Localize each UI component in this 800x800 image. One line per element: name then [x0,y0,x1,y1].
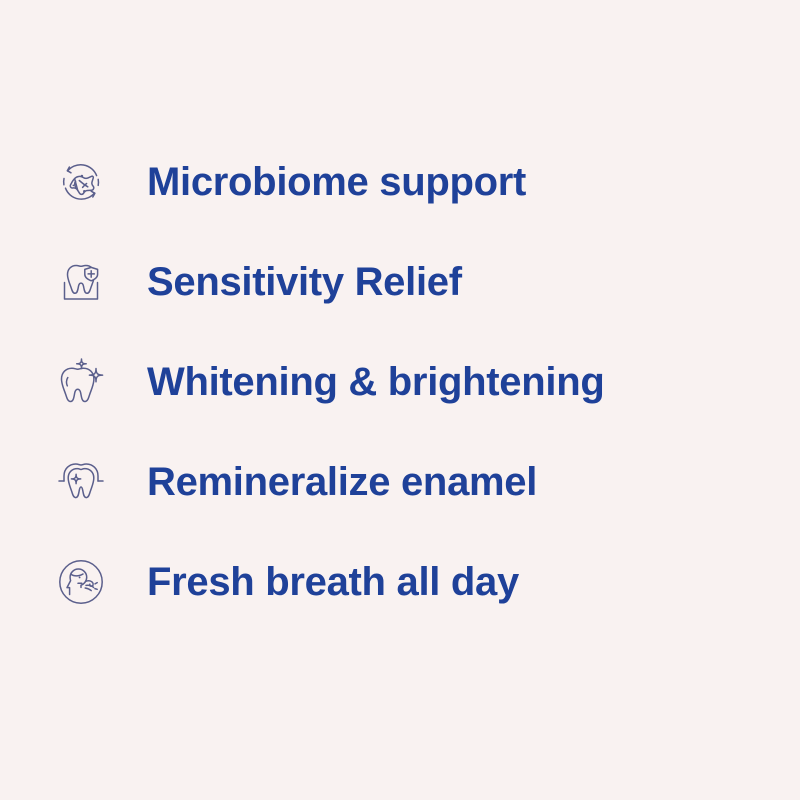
tooth-enamel-sparkle-icon [53,454,109,510]
microbiome-cycle-icon [53,154,109,210]
benefits-list: Microbiome support Sensitivity Relief [0,132,800,632]
benefit-item-microbiome-support: Microbiome support [0,132,800,232]
benefit-label: Microbiome support [147,161,526,203]
tooth-gum-shield-icon [53,254,109,310]
benefit-label: Sensitivity Relief [147,261,462,303]
benefit-item-sensitivity-relief: Sensitivity Relief [0,232,800,332]
benefit-label: Remineralize enamel [147,461,537,503]
benefit-item-fresh-breath: Fresh breath all day [0,532,800,632]
benefit-item-whitening-brightening: Whitening & brightening [0,332,800,432]
benefit-label: Whitening & brightening [147,361,604,403]
fresh-breath-head-icon [53,554,109,610]
benefit-label: Fresh breath all day [147,561,519,603]
benefits-card: Microbiome support Sensitivity Relief [0,0,800,800]
tooth-sparkles-icon [53,354,109,410]
benefit-item-remineralize-enamel: Remineralize enamel [0,432,800,532]
